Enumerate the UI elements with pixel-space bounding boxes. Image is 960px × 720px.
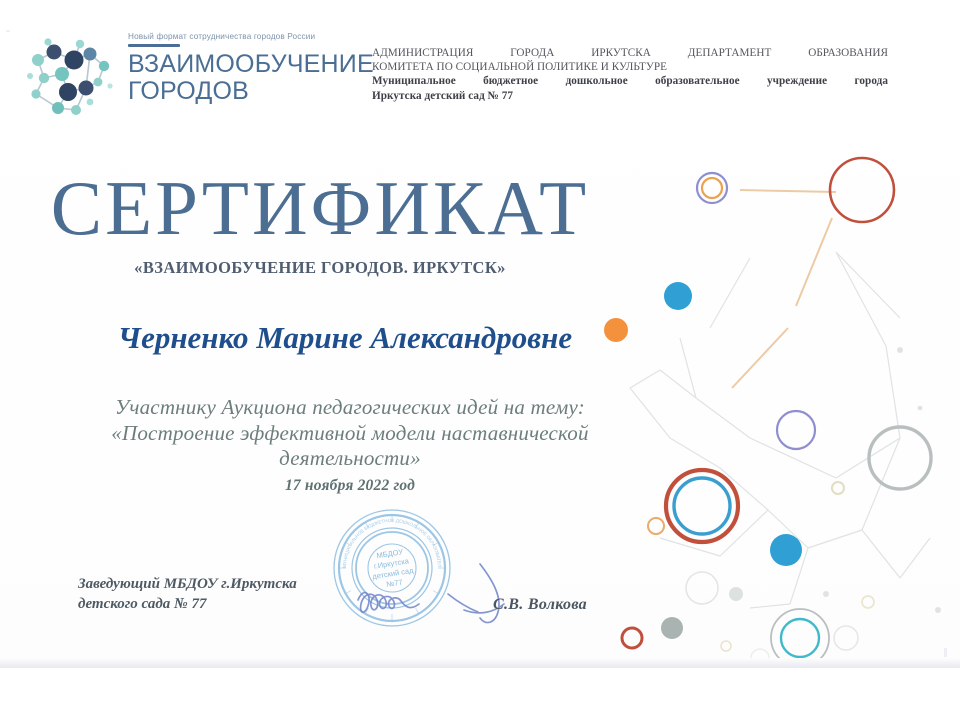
signatory-role: Заведующий МБДОУ г.Иркутска детского сад…: [78, 574, 297, 614]
molecule-network-logo-icon: [18, 30, 122, 130]
body-line-2: «Построение эффективной модели наставнич…: [60, 421, 640, 447]
org-line-4: Иркутска детский сад № 77: [372, 89, 888, 103]
handwritten-signature: [352, 548, 552, 640]
certificate-subtitle: «ВЗАИМООБУЧЕНИЕ ГОРОДОВ. ИРКУТСК»: [0, 258, 640, 278]
certificate-header: Новый формат сотрудничества городов Росс…: [0, 22, 960, 134]
logo-word-line1: ВЗАИМООБУЧЕНИЕ: [128, 51, 364, 78]
node-focal-red-ring: [666, 470, 738, 542]
recipient-name: Черненко Марине Александровне: [0, 320, 690, 356]
node-red-large: [830, 158, 894, 222]
logo-wordmark: Новый формат сотрудничества городов Росс…: [128, 32, 364, 105]
org-line-1: АДМИНИСТРАЦИЯ ГОРОДА ИРКУТСКА ДЕПАРТАМЕН…: [372, 46, 888, 60]
certificate-date: 17 ноября 2022 год: [60, 477, 640, 495]
program-logo: Новый формат сотрудничества городов Росс…: [18, 28, 358, 136]
signatory-name: С.В. Волкова: [493, 596, 587, 614]
signatory-role-line1: Заведующий МБДОУ г.Иркутска: [78, 574, 297, 594]
logo-word-line2: ГОРОДОВ: [128, 78, 364, 105]
network-graphic: [600, 138, 960, 658]
organization-header: АДМИНИСТРАЦИЯ ГОРОДА ИРКУТСКА ДЕПАРТАМЕН…: [372, 46, 888, 103]
org-line-3: Муниципальное бюджетное дошкольное образ…: [372, 74, 888, 88]
body-line-1: Участнику Аукциона педагогических идей н…: [60, 395, 640, 421]
certificate-body: Участнику Аукциона педагогических идей н…: [60, 395, 640, 495]
certificate-page: Новый формат сотрудничества городов Росс…: [0, 0, 960, 720]
certificate-title: СЕРТИФИКАТ: [0, 168, 640, 248]
signatory-role-line2: детского сада № 77: [78, 594, 297, 614]
scanned-sheet: Новый формат сотрудничества городов Росс…: [0, 0, 960, 668]
org-line-2: КОМИТЕТА ПО СОЦИАЛЬНОЙ ПОЛИТИКЕ И КУЛЬТУ…: [372, 60, 888, 74]
body-line-3: деятельности»: [60, 446, 640, 472]
node-focal-blue-ring: [674, 478, 730, 534]
scan-speck: [944, 648, 947, 657]
scan-speck: [6, 30, 10, 32]
logo-rule: [128, 44, 180, 47]
logo-tagline: Новый формат сотрудничества городов Росс…: [128, 32, 364, 41]
